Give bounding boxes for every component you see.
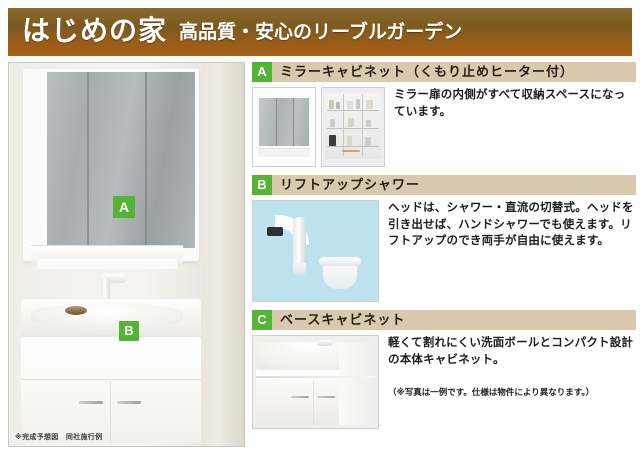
thumb-item — [336, 102, 340, 109]
thumb-item — [365, 137, 371, 146]
hero-caption: ※完成予想図 同社施行例 — [15, 432, 102, 442]
feature-b-title: リフトアップシャワー — [272, 175, 636, 195]
hero-marker-b: B — [119, 321, 139, 341]
thumb-shelf-row-2 — [327, 128, 379, 129]
hero-photo: A B C ※完成予想図 同社施行例 — [8, 62, 245, 447]
thumb-door-split — [313, 380, 314, 425]
feature-c-title: ベースキャビネット — [272, 310, 636, 330]
feature-b-description: ヘッドは、シャワー・直流の切替式。ヘッドを引き出せば、ハンドシャワーでも使えます… — [379, 200, 636, 302]
thumb-shelf-row-3 — [327, 146, 379, 147]
feature-b-badge: B — [252, 175, 272, 195]
shower-arm — [293, 217, 306, 269]
feature-section-a: A ミラーキャビネット（くもり止めヒーター付） — [252, 62, 636, 167]
thumb-faucet — [317, 340, 333, 346]
shower-nozzle — [267, 227, 283, 236]
mirror-glass — [47, 72, 195, 248]
base-cabinet-drawer-line — [21, 379, 201, 380]
thumb-item — [329, 100, 334, 109]
thumb-item — [366, 100, 373, 109]
mirror-cabinet-closed-photo — [252, 87, 316, 167]
feature-b-header: B リフトアップシャワー — [252, 175, 636, 195]
feature-c-body: 軽くて割れにくい洗面ボールとコンパクト設計の本体キャビネット。 （※写真は一例で… — [252, 335, 636, 429]
thumb-shelf-col-2 — [362, 94, 363, 156]
hero-marker-a: A — [113, 196, 135, 218]
base-cabinet-body — [21, 337, 201, 443]
brand-title: はじめの家 — [22, 18, 167, 46]
thumb-item — [342, 150, 360, 152]
cabinet-shelf-lower — [37, 259, 177, 269]
cabinet-handle-left — [79, 401, 103, 404]
shower-mixer-lever — [319, 257, 361, 266]
lift-up-shower-photo — [252, 200, 379, 302]
feature-a-header: A ミラーキャビネット（くもり止めヒーター付） — [252, 62, 636, 82]
feature-c-header: C ベースキャビネット — [252, 310, 636, 330]
feature-a-thumbs — [252, 87, 385, 167]
thumb-cabinet-edge — [256, 376, 375, 378]
room-wall-right — [202, 63, 244, 446]
mirror-divider-left — [87, 72, 89, 248]
cabinet-handle-right — [117, 401, 141, 404]
feature-b-body: ヘッドは、シャワー・直流の切替式。ヘッドを引き出せば、ハンドシャワーでも使えます… — [252, 200, 636, 302]
feature-list: A ミラーキャビネット（くもり止めヒーター付） — [252, 62, 636, 437]
feature-a-body: ミラー扉の内側がすべて収納スペースになっています。 — [252, 87, 636, 167]
page-root: はじめの家 高品質・安心のリーブルガーデン A B — [0, 0, 640, 453]
thumb-mirror-divider-2 — [293, 98, 294, 146]
mirror-cabinet-open-photo — [321, 87, 385, 167]
shower-head-tip — [293, 263, 306, 275]
thumb-handle-left — [291, 396, 309, 398]
thumb-item — [347, 101, 353, 109]
feature-c-badge: C — [252, 310, 272, 330]
thumb-shelf-col-1 — [343, 94, 344, 156]
thumb-mirror-glass — [259, 98, 309, 146]
thumb-item — [356, 99, 360, 109]
feature-c-description-wrap: 軽くて割れにくい洗面ボールとコンパクト設計の本体キャビネット。 （※写真は一例で… — [379, 335, 636, 429]
mirror-cabinet — [23, 69, 199, 261]
thumb-handle-right — [317, 396, 335, 398]
base-cabinet-door-split — [110, 381, 111, 443]
feature-b-thumbs — [252, 200, 379, 302]
feature-c-thumbs — [252, 335, 379, 429]
feature-a-title: ミラーキャビネット（くもり止めヒーター付） — [272, 62, 636, 82]
feature-a-description: ミラー扉の内側がすべて収納スペースになっています。 — [385, 87, 636, 167]
counter-decor — [65, 306, 87, 315]
thumb-shelf-row-1 — [327, 110, 379, 111]
thumb-mirror-divider-1 — [276, 98, 277, 146]
feature-section-c: C ベースキャビネット 軽くて — [252, 310, 636, 429]
feature-a-badge: A — [252, 62, 272, 82]
wash-basin — [31, 303, 183, 329]
mirror-divider-right — [145, 72, 147, 248]
hero-photo-art — [9, 63, 244, 446]
thumb-side-panel — [339, 342, 375, 425]
feature-c-description: 軽くて割れにくい洗面ボールとコンパクト設計の本体キャビネット。 — [388, 335, 636, 368]
thumb-cabinet-shelf — [258, 148, 310, 157]
brand-subtitle: 高品質・安心のリーブルガーデン — [179, 23, 462, 42]
thumb-item — [348, 118, 354, 127]
thumb-item — [330, 119, 335, 127]
photo-disclaimer-note: （※写真は一例です。仕様は物件により異なります。） — [388, 386, 636, 398]
base-cabinet-photo — [252, 335, 379, 429]
thumb-item — [329, 135, 336, 146]
feature-section-b: B リフトアップシャワー ヘッドは、シャワー・直流の切替式。ヘッドを引き出せば、… — [252, 175, 636, 302]
thumb-item — [366, 120, 371, 127]
header-banner: はじめの家 高品質・安心のリーブルガーデン — [8, 8, 632, 56]
thumb-item — [347, 136, 352, 146]
